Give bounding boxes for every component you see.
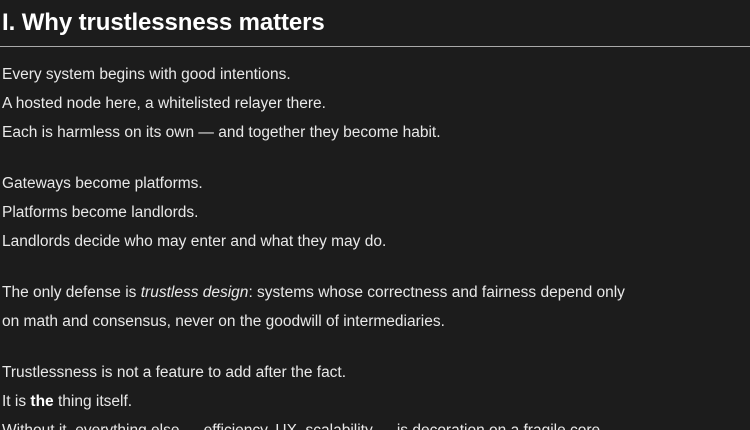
- paragraph-line: Landlords decide who may enter and what …: [2, 227, 750, 256]
- heading-divider: [0, 46, 750, 47]
- paragraph-gateways: Gateways become platforms. Platforms bec…: [2, 169, 750, 256]
- text-fragment: : systems whose correctness and fairness…: [248, 284, 625, 301]
- document-body: Every system begins with good intentions…: [2, 60, 750, 430]
- paragraph-line: Gateways become platforms.: [2, 169, 750, 198]
- document-page: I. Why trustlessness matters Every syste…: [0, 0, 750, 430]
- paragraph-trustless-design: The only defense is trustless design: sy…: [2, 278, 750, 336]
- paragraph-line: The only defense is trustless design: sy…: [2, 278, 750, 307]
- paragraph-line: Each is harmless on its own — and togeth…: [2, 118, 750, 147]
- text-fragment: It is: [2, 393, 30, 410]
- text-fragment: thing itself.: [54, 393, 132, 410]
- paragraph-line: Every system begins with good intentions…: [2, 60, 750, 89]
- paragraph-line: It is the thing itself.: [2, 387, 750, 416]
- paragraph-line: on math and consensus, never on the good…: [2, 307, 750, 336]
- text-fragment: The only defense is: [2, 284, 141, 301]
- paragraph-line: Trustlessness is not a feature to add af…: [2, 358, 750, 387]
- paragraph-intentions: Every system begins with good intentions…: [2, 60, 750, 147]
- paragraph-line: Without it, everything else — efficiency…: [2, 416, 750, 430]
- paragraph-line: A hosted node here, a whitelisted relaye…: [2, 89, 750, 118]
- emphasis-trustless-design: trustless design: [141, 284, 249, 301]
- emphasis-the: the: [30, 393, 53, 410]
- paragraph-line: Platforms become landlords.: [2, 198, 750, 227]
- paragraph-not-a-feature: Trustlessness is not a feature to add af…: [2, 358, 750, 430]
- page-title: I. Why trustlessness matters: [2, 0, 750, 37]
